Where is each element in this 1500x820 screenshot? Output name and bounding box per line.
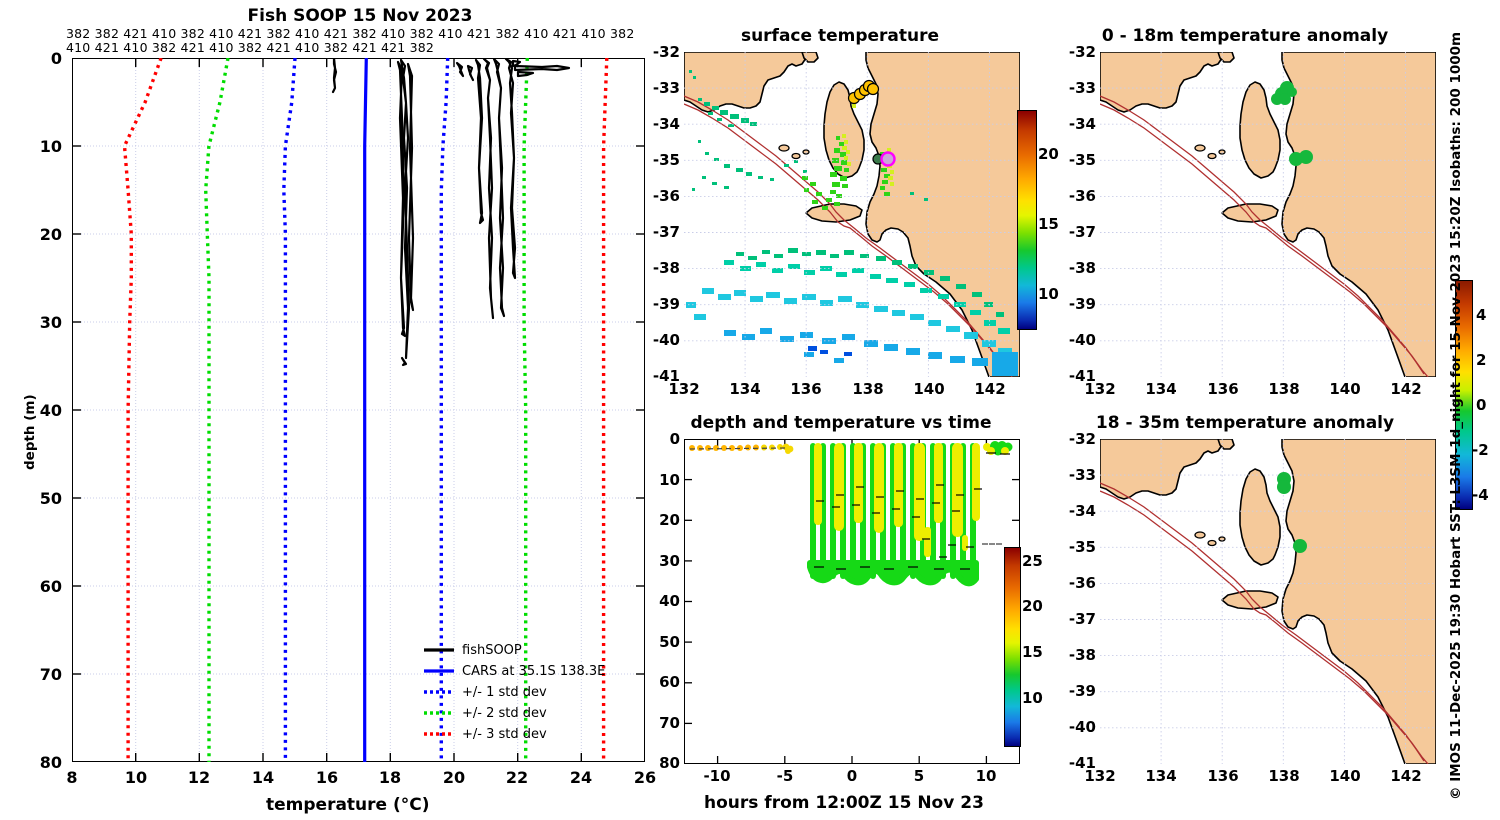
at-xtick-142: 142 xyxy=(1386,380,1426,398)
dt-late-cluster xyxy=(983,441,1013,456)
legend-label-cars: CARS at 35.1S 138.3E xyxy=(462,664,605,679)
profile-ytick-20: 20 xyxy=(18,225,62,244)
dt-ytick-40: 40 xyxy=(646,592,680,610)
dt-xtick--5: -5 xyxy=(765,767,805,785)
dt-xtick-0: 0 xyxy=(832,767,872,785)
sst-xtick-136: 136 xyxy=(786,380,826,398)
dt-ytick-10: 10 xyxy=(646,471,680,489)
profile-xtick-12: 12 xyxy=(180,768,218,787)
sst-xtick-132: 132 xyxy=(664,380,704,398)
ab-xtick-134: 134 xyxy=(1141,767,1181,785)
anomaly-bottom-plot xyxy=(1100,439,1436,764)
header-numbers: 382 382 421 410 382 410 421 382 410 421 … xyxy=(66,27,651,55)
at-xtick-134: 134 xyxy=(1141,380,1181,398)
at-ytick--34: -34 xyxy=(1066,115,1096,133)
dt-cb-marker xyxy=(982,543,1002,545)
dt-ytick-70: 70 xyxy=(646,714,680,732)
series-cars xyxy=(365,58,367,762)
acb-tick--4: -4 xyxy=(1472,486,1489,504)
at-ytick--32: -32 xyxy=(1066,43,1096,61)
sst-map-plot xyxy=(684,52,1020,377)
at-ytick--39: -39 xyxy=(1066,295,1096,313)
ab-ytick--33: -33 xyxy=(1066,466,1096,484)
legend-label-1sd: +/- 1 std dev xyxy=(462,685,547,700)
sst-ytick--34: -34 xyxy=(650,115,680,133)
acb-tick-4: 4 xyxy=(1476,306,1486,324)
ab-xtick-138: 138 xyxy=(1264,767,1304,785)
profile-xtick-18: 18 xyxy=(371,768,409,787)
dt-ytick-80: 80 xyxy=(646,754,680,772)
sst-ytick--32: -32 xyxy=(650,43,680,61)
sst-ytick--37: -37 xyxy=(650,223,680,241)
at-ytick--36: -36 xyxy=(1066,187,1096,205)
sst-ytick--40: -40 xyxy=(650,331,680,349)
ab-ytick--38: -38 xyxy=(1066,646,1096,664)
series-fishsoop xyxy=(333,58,569,365)
anomaly-bottom-panel: 18 - 35m temperature anomaly xyxy=(1040,405,1440,820)
sst-map-panel: surface temperature xyxy=(660,0,1040,405)
depth-time-title: depth and temperature vs time xyxy=(666,413,1016,433)
figure-title: Fish SOOP 15 Nov 2023 xyxy=(130,6,590,26)
ab-ytick--36: -36 xyxy=(1066,574,1096,592)
ab-xtick-132: 132 xyxy=(1080,767,1120,785)
profile-ytick-30: 30 xyxy=(18,313,62,332)
dt-ytick-0: 0 xyxy=(652,430,680,448)
at-ytick--38: -38 xyxy=(1066,259,1096,277)
profile-xtick-10: 10 xyxy=(117,768,155,787)
sst-xtick-138: 138 xyxy=(848,380,888,398)
dt-xlabel: hours from 12:00Z 15 Nov 23 xyxy=(704,793,984,813)
dt-ytick-60: 60 xyxy=(646,673,680,691)
at-ytick--37: -37 xyxy=(1066,223,1096,241)
legend-label-3sd: +/- 3 std dev xyxy=(462,727,547,742)
dt-ytick-30: 30 xyxy=(646,552,680,570)
profile-xtick-8: 8 xyxy=(56,768,88,787)
anomaly-top-plot xyxy=(1100,52,1436,377)
dt-xtick-10: 10 xyxy=(966,767,1006,785)
at-ytick--33: -33 xyxy=(1066,79,1096,97)
at-xtick-138: 138 xyxy=(1264,380,1304,398)
dt-ytick-50: 50 xyxy=(646,633,680,651)
anomaly-top-title: 0 - 18m temperature anomaly xyxy=(1070,26,1420,46)
dt-surface-transect xyxy=(689,444,793,454)
sst-ytick--35: -35 xyxy=(650,151,680,169)
sst-colorbar xyxy=(1017,110,1037,330)
profile-plot xyxy=(72,58,645,762)
profile-xtick-14: 14 xyxy=(244,768,282,787)
ab-ytick--39: -39 xyxy=(1066,682,1096,700)
at-xtick-132: 132 xyxy=(1080,380,1120,398)
profile-xtick-22: 22 xyxy=(498,768,536,787)
sst-xtick-142: 142 xyxy=(970,380,1010,398)
anomaly-bottom-title: 18 - 35m temperature anomaly xyxy=(1070,413,1420,433)
profile-xtick-24: 24 xyxy=(562,768,600,787)
ab-ytick--34: -34 xyxy=(1066,502,1096,520)
profile-xtick-20: 20 xyxy=(435,768,473,787)
profile-xlabel: temperature (°C) xyxy=(266,795,430,815)
credit-text: © IMOS 11-Dec-2025 19:30 Hobart SST: L3S… xyxy=(1448,32,1464,800)
series-minus1sd xyxy=(284,58,295,762)
profile-ytick-50: 50 xyxy=(18,489,62,508)
profile-ytick-70: 70 xyxy=(18,665,62,684)
acb-tick-2: 2 xyxy=(1476,351,1486,369)
sst-map-title: surface temperature xyxy=(680,26,1000,46)
dt-colorbar xyxy=(1004,547,1021,747)
ab-xtick-142: 142 xyxy=(1386,767,1426,785)
legend-label-fishsoop: fishSOOP xyxy=(462,643,522,658)
sst-ytick--36: -36 xyxy=(650,187,680,205)
profile-panel: Fish SOOP 15 Nov 2023 382 382 421 410 38… xyxy=(0,0,660,820)
profile-ylabel: depth (m) xyxy=(22,394,38,470)
profile-ytick-10: 10 xyxy=(18,137,62,156)
ab-ytick--37: -37 xyxy=(1066,610,1096,628)
profile-xtick-16: 16 xyxy=(308,768,346,787)
profile-ytick-0: 0 xyxy=(30,49,62,68)
dt-xtick-5: 5 xyxy=(899,767,939,785)
acb-tick-0: 0 xyxy=(1476,396,1486,414)
legend-label-2sd: +/- 2 std dev xyxy=(462,706,547,721)
ab-xtick-140: 140 xyxy=(1325,767,1365,785)
dt-survey-block xyxy=(810,443,982,583)
profile-ytick-60: 60 xyxy=(18,577,62,596)
ab-xtick-136: 136 xyxy=(1203,767,1243,785)
at-ytick--40: -40 xyxy=(1066,331,1096,349)
dt-xtick--10: -10 xyxy=(697,767,737,785)
ab-ytick--35: -35 xyxy=(1066,538,1096,556)
ab-ytick--40: -40 xyxy=(1066,718,1096,736)
ab-ytick--32: -32 xyxy=(1066,430,1096,448)
depth-time-plot xyxy=(684,439,1020,764)
dt-ytick-20: 20 xyxy=(646,511,680,529)
sst-xtick-140: 140 xyxy=(909,380,949,398)
anomaly-top-panel: 0 - 18m temperature anomaly xyxy=(1040,0,1440,405)
sst-ytick--33: -33 xyxy=(650,79,680,97)
sst-ytick--39: -39 xyxy=(650,295,680,313)
sst-xtick-134: 134 xyxy=(725,380,765,398)
at-ytick--35: -35 xyxy=(1066,151,1096,169)
sst-ytick--38: -38 xyxy=(650,259,680,277)
acb-tick--2: -2 xyxy=(1472,441,1489,459)
at-xtick-136: 136 xyxy=(1203,380,1243,398)
depth-time-panel: depth and temperature vs time xyxy=(660,405,1040,820)
at-xtick-140: 140 xyxy=(1325,380,1365,398)
